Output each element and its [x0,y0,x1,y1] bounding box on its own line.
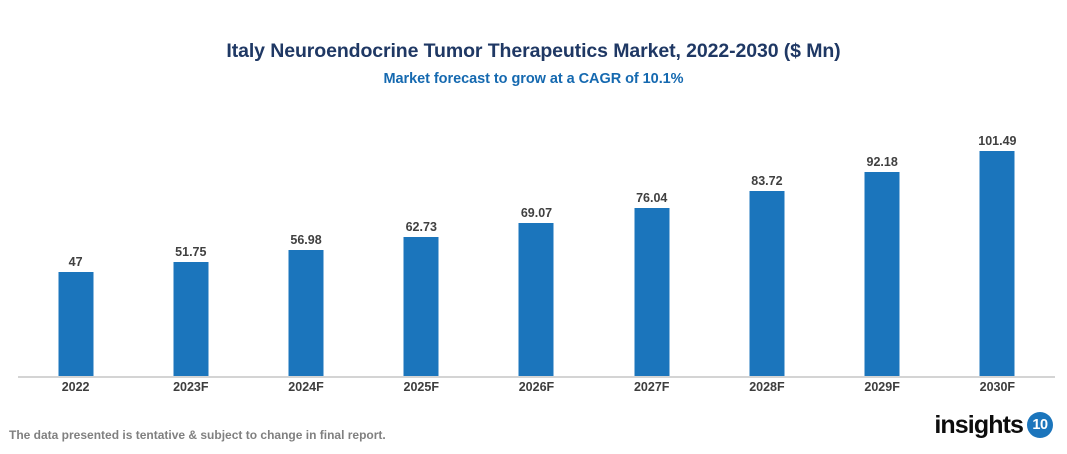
bar-slot: 51.75 [133,110,248,377]
x-tick-2028F: 2028F [709,380,824,394]
x-tick-2022: 2022 [18,380,133,394]
chart-subtitle: Market forecast to grow at a CAGR of 10.… [0,71,1067,87]
bar-value-label: 47 [69,255,83,269]
title-block: Italy Neuroendocrine Tumor Therapeutics … [0,40,1067,87]
bar-value-label: 101.49 [978,134,1016,148]
bar-value-label: 56.98 [290,233,321,247]
x-axis-line [18,376,1055,378]
bar-2029F[interactable]: 92.18 [865,172,900,377]
bar-slot: 47 [18,110,133,377]
bar-2028F[interactable]: 83.72 [749,191,784,377]
x-tick-2029F: 2029F [825,380,940,394]
bar-slot: 92.18 [825,110,940,377]
insights10-logo: insights 10 [934,408,1053,442]
bar-slot: 69.07 [479,110,594,377]
x-tick-2024F: 2024F [248,380,363,394]
bar-2026F[interactable]: 69.07 [519,223,554,377]
bar-value-label: 62.73 [406,220,437,234]
bar-slot: 56.98 [248,110,363,377]
bar-value-label: 51.75 [175,245,206,259]
bar-slot: 83.72 [709,110,824,377]
bar-2022[interactable]: 47 [58,272,93,377]
bar-slot: 76.04 [594,110,709,377]
bar-2023F[interactable]: 51.75 [173,262,208,377]
bar-2027F[interactable]: 76.04 [634,208,669,377]
x-tick-2026F: 2026F [479,380,594,394]
bar-value-label: 83.72 [751,174,782,188]
bar-2025F[interactable]: 62.73 [404,237,439,377]
logo-badge-icon: 10 [1027,412,1053,438]
bar-2024F[interactable]: 56.98 [289,250,324,377]
bar-chart-plot-area: 4751.7556.9862.7369.0776.0483.7292.18101… [18,110,1055,377]
bar-slot: 62.73 [364,110,479,377]
x-tick-2030F: 2030F [940,380,1055,394]
x-tick-2027F: 2027F [594,380,709,394]
logo-wordmark: insights [934,413,1023,438]
x-tick-2023F: 2023F [133,380,248,394]
chart-page: Italy Neuroendocrine Tumor Therapeutics … [0,0,1067,454]
bar-value-label: 92.18 [867,155,898,169]
disclaimer-text: The data presented is tentative & subjec… [9,428,386,442]
x-axis-tick-labels: 20222023F2024F2025F2026F2027F2028F2029F2… [18,380,1055,400]
bar-value-label: 76.04 [636,191,667,205]
bar-value-label: 69.07 [521,206,552,220]
chart-title: Italy Neuroendocrine Tumor Therapeutics … [0,40,1067,62]
bar-2030F[interactable]: 101.49 [980,151,1015,377]
x-tick-2025F: 2025F [364,380,479,394]
bar-slot: 101.49 [940,110,1055,377]
